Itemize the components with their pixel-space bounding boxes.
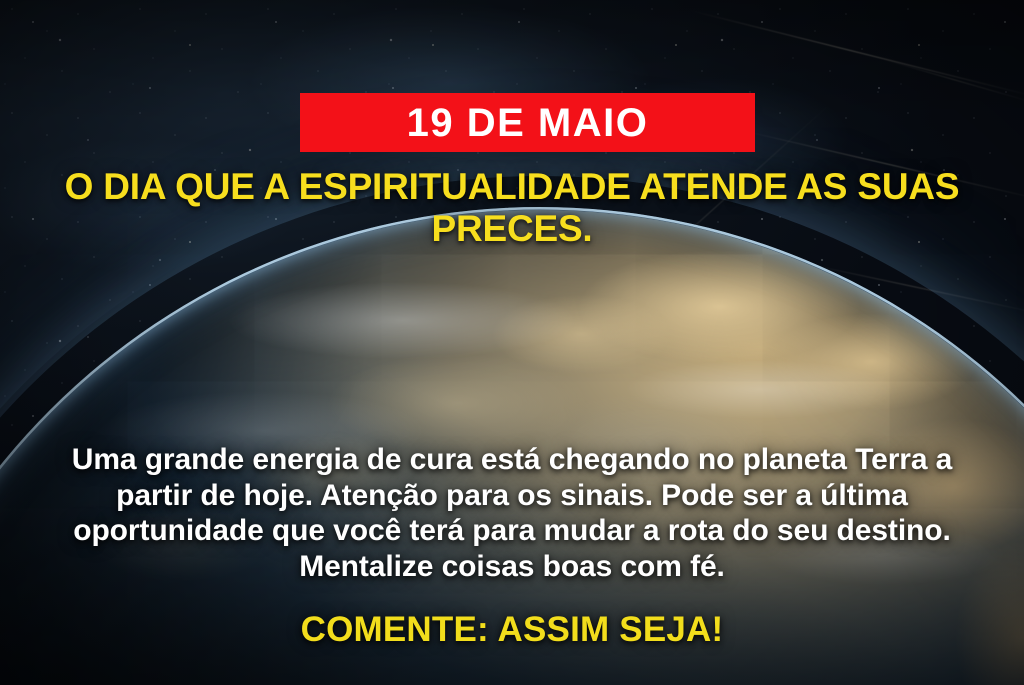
body-paragraph: Uma grande energia de cura está chegando… bbox=[0, 442, 1024, 585]
date-banner-label: 19 DE MAIO bbox=[407, 103, 649, 143]
date-banner: 19 DE MAIO bbox=[300, 93, 755, 152]
poster-image: 19 DE MAIO O DIA QUE A ESPIRITUALIDADE A… bbox=[0, 0, 1024, 685]
call-to-action-text: COMENTE: ASSIM SEJA! bbox=[0, 612, 1024, 647]
poster-content: 19 DE MAIO O DIA QUE A ESPIRITUALIDADE A… bbox=[0, 0, 1024, 685]
headline-text: O DIA QUE A ESPIRITUALIDADE ATENDE AS SU… bbox=[0, 166, 1024, 250]
